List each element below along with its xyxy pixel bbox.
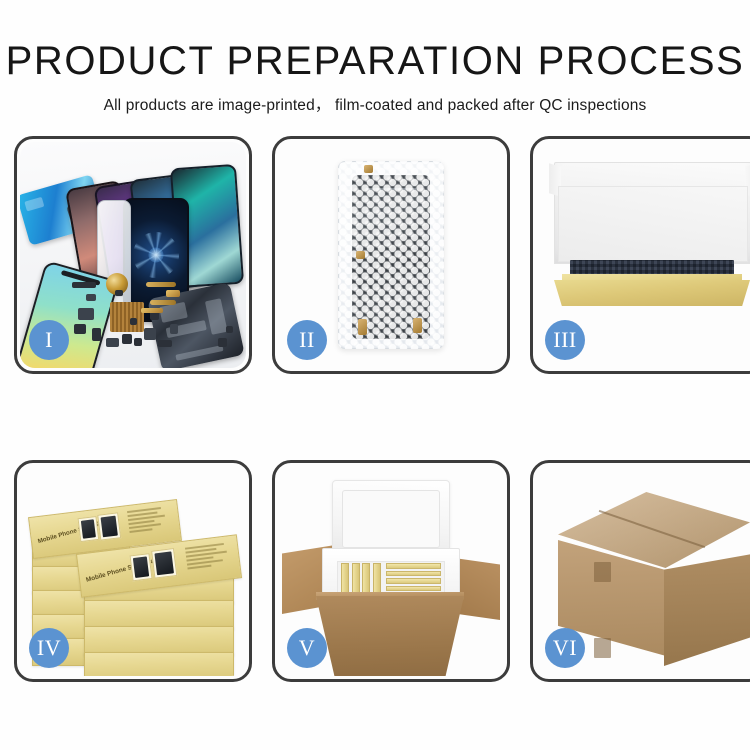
page-subtitle: All products are image-printed， film-coa… (0, 93, 750, 115)
product-preparation-infographic: PRODUCT PREPARATION PROCESS All products… (0, 0, 750, 750)
phone-parts-collage: I (20, 142, 246, 368)
process-step-1: I (14, 136, 252, 374)
step-badge: VI (545, 628, 585, 668)
process-step-6: VI (530, 460, 750, 682)
carton-with-foam-cooler: V (278, 466, 504, 676)
step-badge: II (287, 320, 327, 360)
carton-tape-tab (594, 638, 611, 658)
process-step-grid: I II (14, 136, 736, 680)
bubble-wrapped-screen: II (278, 142, 504, 368)
open-box-icon (554, 260, 750, 306)
foam-lid-icon (332, 480, 450, 558)
chip-component-icon (110, 302, 144, 332)
sealed-outer-carton: VI (536, 466, 750, 676)
carton-tape-tab (594, 562, 611, 582)
bubble-wrap-bag-icon (338, 161, 444, 349)
process-step-3: III (530, 136, 750, 374)
header: PRODUCT PREPARATION PROCESS All products… (0, 38, 750, 115)
step-badge: III (545, 320, 585, 360)
carton-body-icon (316, 596, 464, 676)
stacked-inner-boxes: Mobile Phone Spare Parts Mobile Phone Sp… (20, 466, 246, 676)
process-step-2: II (272, 136, 510, 374)
process-step-4: Mobile Phone Spare Parts Mobile Phone Sp… (14, 460, 252, 682)
step-badge: I (29, 320, 69, 360)
process-step-5: V (272, 460, 510, 682)
inner-box-with-foam: III (536, 142, 750, 368)
step-badge: IV (29, 628, 69, 668)
step-badge: V (287, 628, 327, 668)
page-title: PRODUCT PREPARATION PROCESS (0, 38, 750, 84)
box-lid-face (558, 186, 748, 262)
